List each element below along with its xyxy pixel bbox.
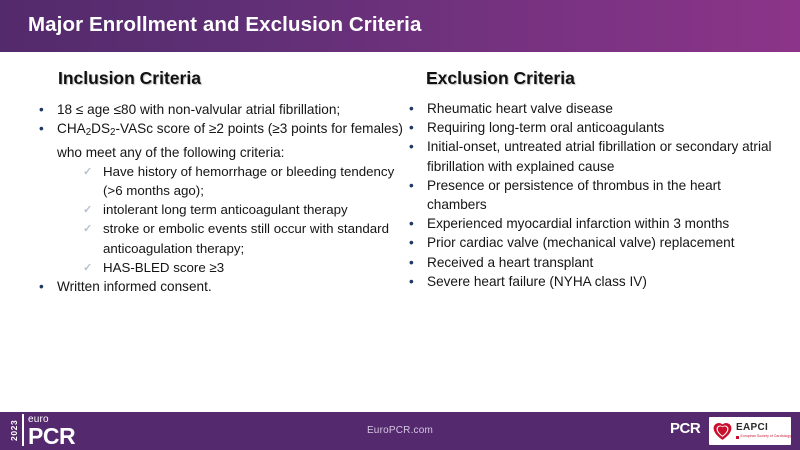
exclusion-criteria-column: Exclusion Criteria • Rheumatic heart val… — [404, 52, 774, 291]
list-item-text: CHA2DS2-VASc score of ≥2 points (≥3 poin… — [57, 119, 404, 162]
list-item: • Written informed consent. — [34, 277, 404, 296]
check-icon: ✓ — [83, 258, 92, 278]
bullet-marker-icon: • — [409, 99, 414, 118]
pcr-logo: PCR — [670, 420, 700, 437]
list-item: • CHA2DS2-VASc score of ≥2 points (≥3 po… — [34, 119, 404, 277]
list-item: ✓ intolerant long term anticoagulant the… — [81, 200, 404, 219]
bullet-marker-icon: • — [409, 272, 414, 291]
eapci-logo-tagline: European Society of Cardiology — [736, 435, 791, 438]
bullet-marker-icon: • — [409, 214, 414, 233]
list-item: • Initial-onset, untreated atrial fibril… — [404, 137, 774, 175]
inclusion-criteria-heading: Inclusion Criteria — [58, 68, 404, 89]
europcr-logo-divider — [22, 414, 24, 446]
list-item-text: intolerant long term anticoagulant thera… — [103, 200, 404, 219]
list-item-text: Rheumatic heart valve disease — [427, 99, 774, 118]
list-item-text: Received a heart transplant — [427, 253, 774, 272]
bullet-marker-icon: • — [39, 119, 44, 138]
europcr-logo-wordmark: euro PCR — [28, 414, 75, 447]
europcr-logo-year: 2023 — [9, 414, 19, 446]
eapci-logo-text: EAPCI European Society of Cardiology — [736, 423, 791, 438]
eapci-logo-name: EAPCI — [736, 423, 791, 433]
list-item: • Rheumatic heart valve disease — [404, 99, 774, 118]
list-item-text: Experienced myocardial infarction within… — [427, 214, 774, 233]
list-item-text: 18 ≤ age ≤80 with non-valvular atrial fi… — [57, 100, 404, 119]
slide-header-bar: Major Enrollment and Exclusion Criteria — [0, 0, 800, 52]
check-icon: ✓ — [83, 219, 92, 239]
list-item-text: Prior cardiac valve (mechanical valve) r… — [427, 233, 774, 252]
list-item: • Presence or persistence of thrombus in… — [404, 176, 774, 214]
inclusion-criteria-column: Inclusion Criteria • 18 ≤ age ≤80 with n… — [22, 52, 404, 296]
bullet-marker-icon: • — [409, 137, 414, 156]
inclusion-criteria-sublist: ✓ Have history of hemorrhage or bleeding… — [81, 162, 404, 277]
list-item: • Severe heart failure (NYHA class IV) — [404, 272, 774, 291]
slide-body: Inclusion Criteria • 18 ≤ age ≤80 with n… — [0, 52, 800, 412]
heart-icon — [713, 422, 732, 441]
list-item-text: Severe heart failure (NYHA class IV) — [427, 272, 774, 291]
list-item-text: stroke or embolic events still occur wit… — [103, 219, 404, 257]
europcr-logo: 2023 euro PCR — [9, 414, 75, 448]
exclusion-criteria-list: • Rheumatic heart valve disease • Requir… — [404, 99, 774, 291]
check-icon: ✓ — [83, 200, 92, 220]
list-item-text: Have history of hemorrhage or bleeding t… — [103, 162, 404, 200]
bullet-marker-icon: • — [39, 277, 44, 296]
check-icon: ✓ — [83, 162, 92, 182]
bullet-marker-icon: • — [409, 176, 414, 195]
bullet-marker-icon: • — [39, 100, 44, 119]
list-item: ✓ stroke or embolic events still occur w… — [81, 219, 404, 257]
europcr-logo-pcr: PCR — [28, 425, 75, 447]
list-item: • Requiring long-term oral anticoagulant… — [404, 118, 774, 137]
list-item: • Experienced myocardial infarction with… — [404, 214, 774, 233]
inclusion-criteria-list: • 18 ≤ age ≤80 with non-valvular atrial … — [34, 100, 404, 296]
eapci-tagline-text: European Society of Cardiology — [741, 435, 792, 438]
eapci-tagline-dot-icon — [736, 436, 739, 439]
list-item-text: Presence or persistence of thrombus in t… — [427, 176, 774, 214]
list-item: • Received a heart transplant — [404, 253, 774, 272]
bullet-marker-icon: • — [409, 118, 414, 137]
list-item-text: Written informed consent. — [57, 277, 404, 296]
list-item: ✓ HAS-BLED score ≥3 — [81, 258, 404, 277]
list-item: ✓ Have history of hemorrhage or bleeding… — [81, 162, 404, 200]
list-item-text: Initial-onset, untreated atrial fibrilla… — [427, 137, 774, 175]
list-item-text: Requiring long-term oral anticoagulants — [427, 118, 774, 137]
list-item: • Prior cardiac valve (mechanical valve)… — [404, 233, 774, 252]
list-item-text: HAS-BLED score ≥3 — [103, 258, 404, 277]
eapci-logo: EAPCI European Society of Cardiology — [709, 417, 791, 445]
slide: Major Enrollment and Exclusion Criteria … — [0, 0, 800, 450]
page-title: Major Enrollment and Exclusion Criteria — [28, 13, 421, 37]
bullet-marker-icon: • — [409, 253, 414, 272]
bullet-marker-icon: • — [409, 233, 414, 252]
exclusion-criteria-heading: Exclusion Criteria — [426, 68, 774, 89]
list-item: • 18 ≤ age ≤80 with non-valvular atrial … — [34, 100, 404, 119]
